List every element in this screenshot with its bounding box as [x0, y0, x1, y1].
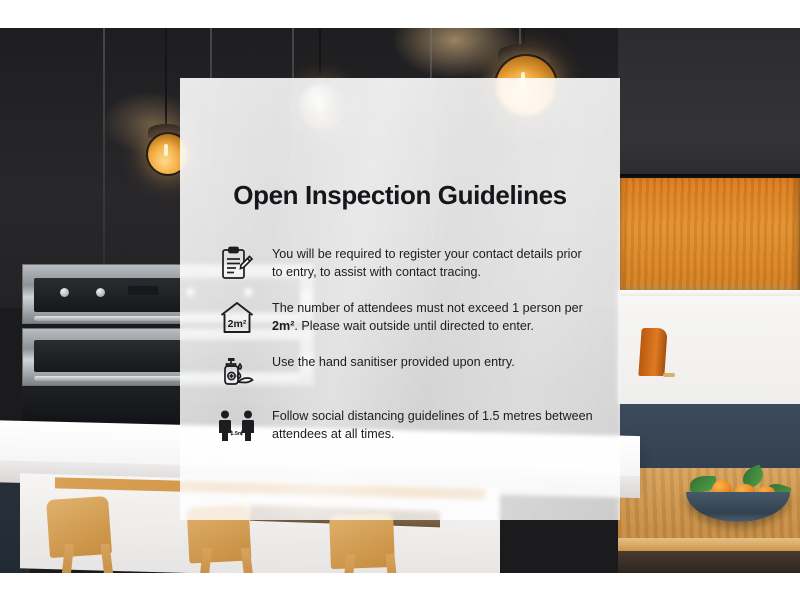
- oven-knob: [60, 288, 69, 297]
- guideline-text: You will be required to register your co…: [272, 244, 594, 282]
- right-dark-cabinet: [618, 28, 800, 188]
- guideline-item: 2m² The number of attendees must not exc…: [218, 298, 594, 338]
- copper-tap: [638, 328, 667, 376]
- guideline-text: Use the hand sanitiser provided upon ent…: [272, 352, 594, 372]
- poster-title: Open Inspection Guidelines: [180, 180, 620, 211]
- social-distancing-icon: 1.5m: [218, 406, 256, 446]
- guideline-item: Use the hand sanitiser provided upon ent…: [218, 352, 594, 392]
- guideline-item: 1.5m Follow social distancing guidelines…: [218, 406, 594, 446]
- guideline-text: Follow social distancing guidelines of 1…: [272, 406, 594, 444]
- counter-underside: [618, 551, 800, 573]
- guidelines-list: You will be required to register your co…: [218, 244, 594, 460]
- pendant-cord: [165, 28, 167, 128]
- guideline-item: You will be required to register your co…: [218, 244, 594, 284]
- clipboard-pen-icon: [218, 244, 256, 284]
- poster-stage: Open Inspection Guidelines: [0, 0, 800, 600]
- tap-spout: [663, 373, 675, 377]
- wood-wall-panel: [618, 178, 800, 298]
- navy-cabinet-base: [618, 404, 800, 476]
- guideline-text: The number of attendees must not exceed …: [272, 298, 594, 336]
- oven-display: [128, 286, 158, 295]
- bar-stool-seatback: [329, 513, 395, 569]
- kitchen-background-photo: Open Inspection Guidelines: [0, 28, 800, 573]
- house-area-icon: 2m²: [218, 298, 256, 338]
- wood-counter-edge: [618, 538, 800, 552]
- letterbox-bottom: [0, 573, 800, 600]
- hand-sanitiser-icon: [218, 352, 256, 392]
- house-icon-label: 2m²: [228, 318, 247, 330]
- oven-knob: [96, 288, 105, 297]
- pendant-filament: [164, 144, 168, 156]
- pendant-cord: [319, 28, 321, 78]
- letterbox-top: [0, 0, 800, 28]
- distance-icon-label: 1.5m: [230, 431, 242, 437]
